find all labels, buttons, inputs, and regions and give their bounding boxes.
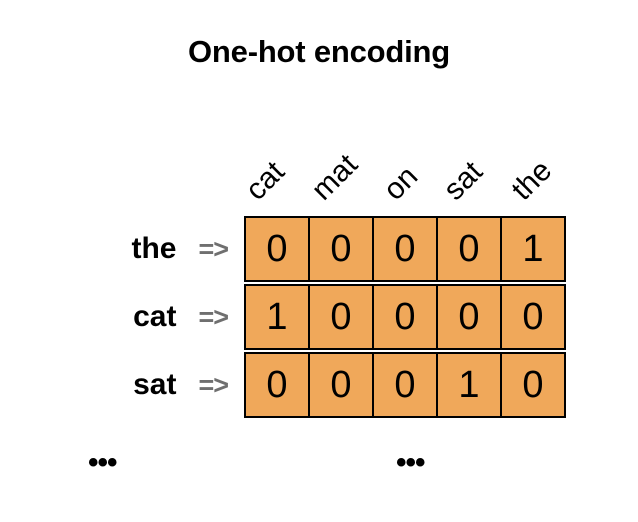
matrix-cell: 0 bbox=[244, 216, 310, 282]
row-word-sat: sat bbox=[133, 370, 176, 400]
matrix-cell: 0 bbox=[500, 284, 566, 350]
row-label-column: the => cat => sat => bbox=[0, 216, 244, 418]
matrix-cell: 1 bbox=[244, 284, 310, 350]
table-row: 0 0 0 1 0 bbox=[244, 352, 576, 418]
column-header-mat: mat bbox=[307, 149, 364, 206]
column-header-sat: sat bbox=[439, 156, 489, 206]
matrix-cell: 0 bbox=[436, 284, 502, 350]
matrix-cell: 0 bbox=[372, 284, 438, 350]
row-word-the: the bbox=[131, 234, 176, 264]
row-label-the: the => bbox=[0, 216, 228, 282]
table-row: 0 0 0 0 1 bbox=[244, 216, 576, 282]
column-header-on: on bbox=[379, 161, 424, 206]
matrix-cell: 0 bbox=[244, 352, 310, 418]
arrow-icon-sat: => bbox=[198, 372, 228, 399]
matrix-cell: 0 bbox=[436, 216, 502, 282]
arrow-icon-cat: => bbox=[198, 304, 228, 331]
ellipsis-rows: ••• bbox=[88, 448, 117, 478]
ellipsis-matrix: ••• bbox=[396, 448, 425, 478]
row-word-cat: cat bbox=[133, 302, 176, 332]
one-hot-encoding-figure: One-hot encoding cat mat on sat the the … bbox=[0, 0, 638, 522]
matrix-cell: 0 bbox=[308, 216, 374, 282]
column-header-row: cat mat on sat the bbox=[0, 0, 638, 216]
matrix-cell: 1 bbox=[436, 352, 502, 418]
column-header-the: the bbox=[507, 155, 558, 206]
arrow-icon-the: => bbox=[198, 236, 228, 263]
matrix-cell: 0 bbox=[308, 352, 374, 418]
column-header-cat: cat bbox=[241, 156, 291, 206]
matrix-cell: 1 bbox=[500, 216, 566, 282]
matrix-cell: 0 bbox=[372, 352, 438, 418]
one-hot-matrix: 0 0 0 0 1 1 0 0 0 0 0 0 0 1 0 bbox=[244, 216, 576, 418]
matrix-cell: 0 bbox=[500, 352, 566, 418]
row-label-sat: sat => bbox=[0, 352, 228, 418]
matrix-cell: 0 bbox=[308, 284, 374, 350]
matrix-cell: 0 bbox=[372, 216, 438, 282]
row-label-cat: cat => bbox=[0, 284, 228, 350]
table-row: 1 0 0 0 0 bbox=[244, 284, 576, 350]
